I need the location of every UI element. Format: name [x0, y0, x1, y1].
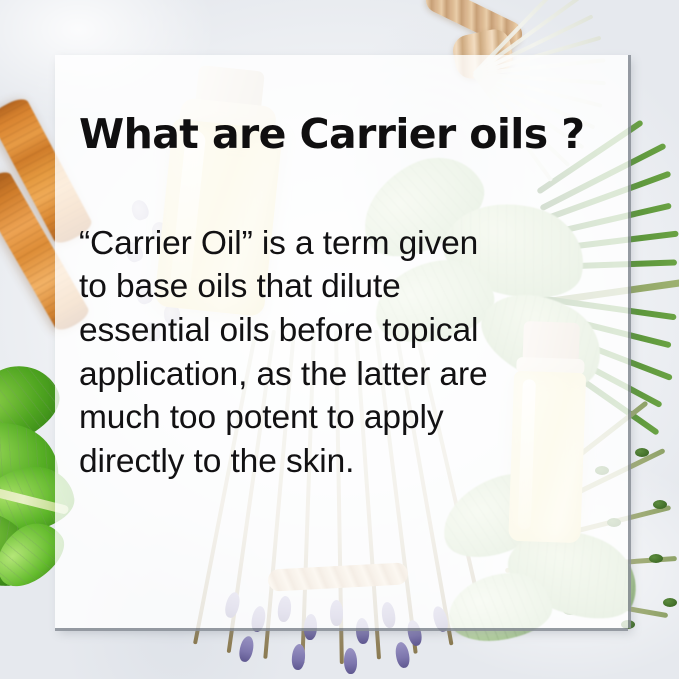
leaf-shape: [635, 448, 649, 457]
text-content-area: What are Carrier oils ? “Carrier Oil” is…: [55, 55, 628, 628]
body-line: directly to the skin.: [79, 440, 588, 484]
body-paragraph: “Carrier Oil” is a term given to base oi…: [79, 222, 588, 484]
text-overlay-panel: What are Carrier oils ? “Carrier Oil” is…: [55, 55, 628, 628]
body-line: application, as the latter are: [79, 353, 588, 397]
body-line: to base oils that dilute: [79, 265, 588, 309]
body-line: essential oils before topical: [79, 309, 588, 353]
carrier-oils-infographic: What are Carrier oils ? “Carrier Oil” is…: [0, 0, 679, 679]
body-line: “Carrier Oil” is a term given: [79, 222, 588, 266]
page-title: What are Carrier oils ?: [79, 113, 588, 156]
body-line: much too potent to apply: [79, 396, 588, 440]
